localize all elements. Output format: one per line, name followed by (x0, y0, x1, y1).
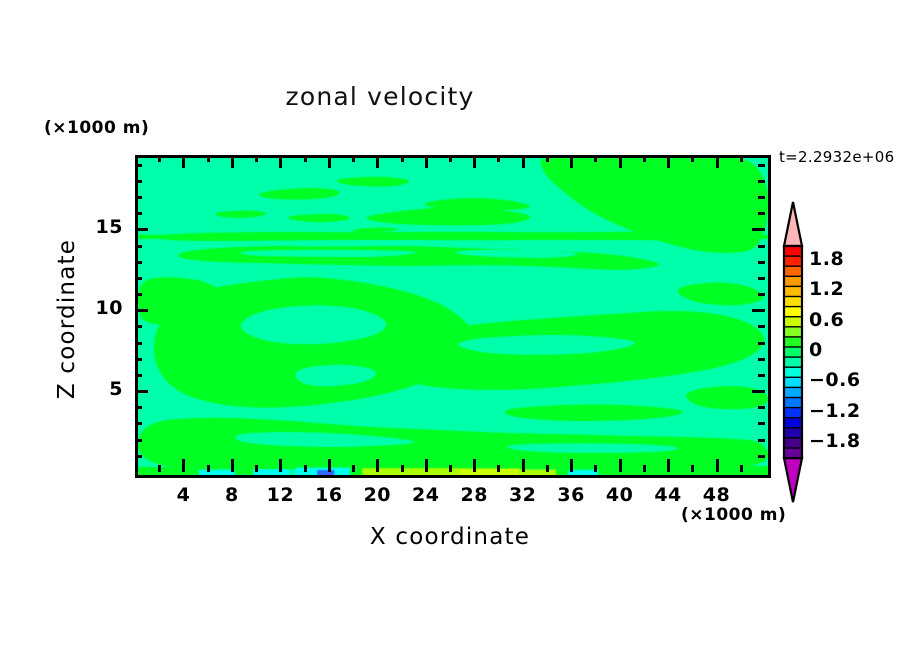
colorbar-tick-label: 1.8 (809, 248, 844, 270)
x-tick-label: 48 (691, 484, 743, 506)
y-tick-minor-right (758, 422, 765, 425)
y-tick-minor (135, 422, 142, 425)
x-tick-minor-top (352, 155, 355, 162)
x-axis-units-label: (×1000 m) (681, 505, 786, 525)
x-tick-major-top (376, 155, 379, 168)
x-tick-major (231, 459, 234, 472)
x-tick-minor-top (449, 155, 452, 162)
y-tick-minor-right (758, 196, 765, 199)
x-tick-minor (255, 465, 258, 472)
x-tick-minor-top (691, 155, 694, 162)
y-tick-minor (135, 342, 142, 345)
x-tick-major-top (570, 155, 573, 168)
x-tick-major-top (425, 155, 428, 168)
x-tick-major-top (473, 155, 476, 168)
y-tick-minor-right (758, 293, 765, 296)
x-tick-minor (352, 465, 355, 472)
y-tick-major-right (752, 228, 765, 231)
x-tick-label: 8 (206, 484, 258, 506)
x-tick-major (425, 459, 428, 472)
colorbar-tick-label: −1.8 (809, 430, 861, 452)
y-tick-minor-right (758, 455, 765, 458)
x-tick-label: 16 (303, 484, 355, 506)
x-tick-major-top (619, 155, 622, 168)
x-tick-minor-top (643, 155, 646, 162)
x-tick-minor (691, 465, 694, 472)
y-tick-major (135, 228, 148, 231)
x-tick-label: 40 (594, 484, 646, 506)
y-tick-minor-right (758, 212, 765, 215)
y-tick-minor-right (758, 180, 765, 183)
y-tick-major (135, 390, 148, 393)
y-tick-major-right (752, 309, 765, 312)
x-tick-minor (207, 465, 210, 472)
x-tick-label: 24 (400, 484, 452, 506)
x-tick-minor (401, 465, 404, 472)
contour-field (138, 158, 768, 475)
y-tick-minor (135, 212, 142, 215)
x-tick-minor-top (207, 155, 210, 162)
x-tick-major (279, 459, 282, 472)
x-tick-minor (546, 465, 549, 472)
x-tick-minor (304, 465, 307, 472)
x-tick-major (522, 459, 525, 472)
page-title: zonal velocity (0, 82, 760, 111)
x-tick-minor-top (740, 155, 743, 162)
y-tick-minor (135, 277, 142, 280)
x-tick-minor (740, 465, 743, 472)
colorbar: 1.81.20.60−0.6−1.2−1.8 (779, 200, 899, 525)
contour-plot-frame (135, 155, 771, 478)
y-tick-minor (135, 293, 142, 296)
y-tick-major-right (752, 390, 765, 393)
y-tick-minor-right (758, 245, 765, 248)
x-tick-minor-top (594, 155, 597, 162)
y-tick-minor (135, 245, 142, 248)
y-tick-minor-right (758, 374, 765, 377)
x-tick-major (716, 459, 719, 472)
y-axis-units-label: (×1000 m) (44, 118, 149, 138)
x-tick-major-top (182, 155, 185, 168)
colorbar-tick-label: 0.6 (809, 309, 844, 331)
y-tick-minor (135, 374, 142, 377)
y-tick-minor (135, 455, 142, 458)
x-tick-label: 12 (254, 484, 306, 506)
x-axis-title: X coordinate (135, 524, 765, 550)
x-tick-label: 4 (157, 484, 209, 506)
y-tick-minor (135, 325, 142, 328)
y-tick-minor (135, 439, 142, 442)
x-tick-minor (158, 465, 161, 472)
x-tick-label: 28 (448, 484, 500, 506)
colorbar-tick-label: −0.6 (809, 369, 861, 391)
x-tick-major-top (279, 155, 282, 168)
x-tick-minor-top (158, 155, 161, 162)
y-tick-major (135, 309, 148, 312)
x-tick-major (328, 459, 331, 472)
colorbar-tick-label: −1.2 (809, 400, 861, 422)
x-tick-label: 20 (351, 484, 403, 506)
x-tick-major (473, 459, 476, 472)
x-tick-major (619, 459, 622, 472)
y-tick-minor-right (758, 164, 765, 167)
x-tick-major-top (667, 155, 670, 168)
y-tick-label: 5 (63, 378, 123, 400)
x-tick-minor-top (401, 155, 404, 162)
x-tick-minor-top (255, 155, 258, 162)
x-tick-major (182, 459, 185, 472)
y-tick-minor-right (758, 439, 765, 442)
x-tick-minor-top (497, 155, 500, 162)
x-tick-minor-top (304, 155, 307, 162)
x-tick-major-top (231, 155, 234, 168)
y-tick-label: 10 (63, 297, 123, 319)
x-tick-minor (449, 465, 452, 472)
x-tick-label: 36 (545, 484, 597, 506)
x-tick-major-top (716, 155, 719, 168)
y-tick-minor-right (758, 325, 765, 328)
y-tick-minor-right (758, 342, 765, 345)
y-tick-minor-right (758, 277, 765, 280)
x-tick-major (376, 459, 379, 472)
y-tick-minor-right (758, 261, 765, 264)
time-annotation: t=2.2932e+06 (779, 148, 894, 166)
x-tick-major (667, 459, 670, 472)
y-tick-minor (135, 180, 142, 183)
x-tick-minor (497, 465, 500, 472)
y-tick-minor (135, 406, 142, 409)
x-tick-minor (594, 465, 597, 472)
colorbar-tick-label: 0 (809, 339, 823, 361)
x-tick-minor (643, 465, 646, 472)
x-tick-label: 44 (642, 484, 694, 506)
y-tick-minor (135, 261, 142, 264)
x-tick-major-top (522, 155, 525, 168)
y-tick-label: 15 (63, 216, 123, 238)
y-tick-minor-right (758, 358, 765, 361)
x-tick-label: 32 (497, 484, 549, 506)
x-tick-minor-top (546, 155, 549, 162)
x-tick-major (570, 459, 573, 472)
y-tick-minor-right (758, 406, 765, 409)
colorbar-tick-label: 1.2 (809, 278, 844, 300)
y-tick-minor (135, 164, 142, 167)
x-tick-major-top (328, 155, 331, 168)
y-tick-minor (135, 358, 142, 361)
y-tick-minor (135, 196, 142, 199)
